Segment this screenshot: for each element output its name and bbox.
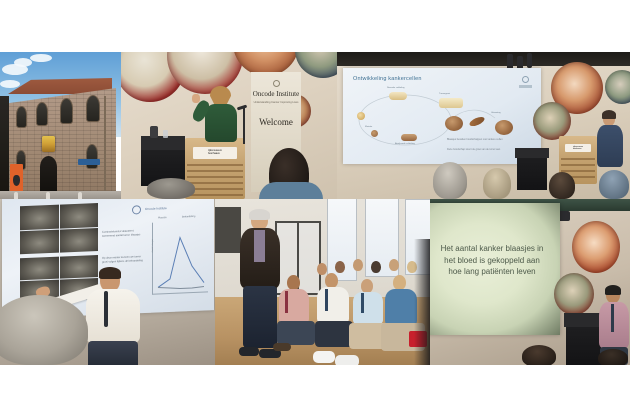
presenter-jeans [243, 286, 277, 348]
slide-logo-text: Oncode Institute [145, 206, 167, 211]
scan-thumbnail [60, 203, 99, 228]
slide-note-1: Blaasjes bevatten boodschappen voor ande… [447, 138, 531, 142]
foreground-audience-head [0, 295, 88, 365]
foreground-audience-head [433, 162, 467, 199]
street-sign [78, 159, 100, 165]
scan-thumbnail-grid [20, 203, 98, 254]
ceramic-wall-plate [572, 221, 620, 273]
diagram-node-tumor-start [439, 98, 463, 108]
slide-body-line-2: Op deze manier kunnen we tumor groei vol… [102, 255, 146, 265]
diagram-label: Mutatie [365, 126, 372, 128]
audience-torso [385, 289, 417, 325]
flag-emblem [13, 175, 20, 186]
foreground-audience-head [549, 172, 575, 199]
lectern-slat [187, 164, 242, 166]
diagram-node-distant-tumor [495, 120, 513, 135]
audience-torso [279, 289, 309, 323]
audience-legs [277, 321, 315, 345]
panel-chart-presentation[interactable]: Oncode Institute Contrastvloeistof detec… [0, 199, 215, 365]
orange-banner-flag [10, 164, 23, 194]
audience-scene [215, 199, 430, 365]
cloud [30, 54, 52, 62]
diagram-label: Tumorgroei [439, 93, 450, 95]
lanyard [325, 289, 328, 311]
foreground-audience-head [147, 178, 195, 199]
audience-head [361, 279, 373, 293]
lectern-logo-text: rijksmuseum boerhaave [208, 150, 222, 156]
cancercells-slide-scene: Ontwikkeling kankercellen [337, 52, 630, 199]
scan-thumbnail [60, 227, 99, 252]
oncode-logo-icon [273, 80, 280, 87]
diagram-node-division [389, 92, 407, 100]
bollard [14, 192, 18, 199]
speaker-hair [605, 285, 621, 295]
speaker-torso [205, 104, 237, 142]
audience-front-row [277, 273, 430, 365]
edge-shadow [414, 239, 430, 365]
audience-head [335, 261, 345, 273]
audience-torso [353, 292, 383, 324]
diagram-label: Normale celdeling [387, 87, 405, 89]
slide-body-line-1: Contrastvloeistof detecteert toenemend a… [102, 229, 146, 239]
drainpipe [104, 96, 106, 197]
diagram-label: Uitzaaiing [491, 112, 501, 114]
collage-row-bottom: Oncode Institute Contrastvloeistof detec… [0, 199, 630, 365]
speaker-person [193, 88, 245, 144]
presenter-shoe [239, 347, 259, 356]
presenter-hair [249, 209, 270, 220]
audience-head [325, 273, 338, 288]
speaker-hair [210, 86, 231, 105]
foreground-audience-head [599, 170, 629, 199]
audience-head [393, 275, 406, 290]
audience-legs [315, 321, 353, 347]
pointing-speaker [78, 269, 166, 365]
green-slide-scene: Het aantal kanker blaasjes in het bloed … [430, 199, 630, 365]
lectern-slat [187, 194, 242, 196]
ceiling-spotlight [527, 53, 532, 68]
foreground-audience-head [522, 345, 556, 365]
audience-sneaker [313, 351, 335, 363]
speaker-shirt [599, 302, 629, 348]
audience-torso [317, 287, 349, 323]
panel-speaker-podium[interactable]: Oncode Institute Understanding Cancer Im… [121, 52, 337, 199]
audience-shoe [273, 343, 291, 351]
lectern-slat [561, 158, 596, 160]
lanyard [611, 304, 614, 332]
scan-thumbnail [20, 229, 59, 254]
chart-legend-placebo: Placebo [158, 216, 167, 219]
speaker-torso [597, 125, 623, 167]
panel-museum-exterior[interactable] [0, 52, 121, 199]
arched-window [86, 95, 100, 122]
arched-window [16, 106, 27, 128]
diagram-node-abnormal-division [401, 134, 417, 141]
chart-legend-behandeling: Behandeling [182, 215, 195, 219]
diagram-node-cell [357, 112, 365, 120]
audience-sneaker [335, 355, 359, 365]
lectern-slat [187, 182, 242, 184]
lectern-slat [561, 164, 596, 166]
glass [163, 130, 168, 138]
speaker-podium-scene: Oncode Institute Understanding Cancer Im… [121, 52, 337, 199]
panel-audience[interactable] [215, 199, 430, 365]
speaker-hair [602, 110, 616, 119]
cocktail-table-cloth [566, 327, 602, 365]
bollard [46, 192, 50, 199]
cocktail-table-top [515, 148, 549, 158]
cloud [0, 80, 20, 88]
speaker-shirt [86, 289, 140, 343]
ceramic-wall-plate [533, 102, 571, 140]
speaker-hand [192, 94, 200, 103]
arched-window [36, 102, 48, 126]
diagram-node-tumor [445, 116, 463, 131]
foreground-audience-shoulders [259, 182, 323, 199]
audience-head [371, 261, 381, 273]
oncode-logo-icon [132, 205, 141, 214]
museum-exterior-scene [0, 52, 121, 199]
chart-presentation-scene: Oncode Institute Contrastvloeistof detec… [0, 199, 215, 365]
coat-of-arms [42, 136, 55, 152]
arched-window [60, 98, 73, 124]
speaker-hair [99, 267, 121, 279]
audience-head [353, 259, 363, 271]
side-table [141, 136, 185, 150]
collage-page: Oncode Institute Understanding Cancer Im… [0, 0, 630, 420]
presenter-shirt [254, 230, 265, 262]
adjacent-building [0, 96, 9, 199]
audience-head [389, 259, 399, 271]
chart-y-axis-label: Aantal blaasjes [152, 229, 154, 263]
panel-slide-cancercells[interactable]: Ontwikkeling kankercellen [337, 52, 630, 199]
photo-collage: Oncode Institute Understanding Cancer Im… [0, 52, 630, 365]
projection-screen: Ontwikkeling kankercellen [343, 68, 541, 164]
lectern-slat [187, 176, 242, 178]
banner-welcome-text: Welcome [259, 117, 293, 127]
foreground-audience-head [598, 349, 628, 365]
banner-institute-name: Oncode Institute [253, 91, 299, 98]
lectern-slat [187, 188, 242, 190]
audience-head [287, 275, 300, 290]
arched-window [86, 144, 98, 169]
panel-slide-green[interactable]: Het aantal kanker blaasjes in het bloed … [430, 199, 630, 365]
cocktail-table-cloth [517, 158, 547, 190]
bollard [78, 192, 82, 199]
lanyard [285, 291, 288, 313]
lanyard [104, 291, 108, 327]
diagram-label: Afwijkende celdeling [395, 143, 415, 145]
collage-row-top: Oncode Institute Understanding Cancer Im… [0, 52, 630, 199]
pavement [0, 191, 121, 199]
speaker-trousers [88, 341, 138, 365]
foreground-audience-head [483, 168, 511, 199]
scan-thumbnail [20, 205, 59, 230]
scan-thumbnail [20, 257, 59, 280]
cloud [14, 58, 32, 67]
banner-subtitle: Understanding Cancer Improving Lives [254, 101, 299, 104]
water-pitcher [150, 126, 158, 138]
projection-screen: Het aantal kanker blaasjes in het bloed … [430, 203, 560, 335]
ceramic-wall-plate [554, 273, 594, 315]
slide-text: Het aantal kanker blaasjes in het bloed … [440, 243, 544, 278]
lectern-logo: rijksmuseum boerhaave [193, 147, 237, 159]
lectern-slat [187, 170, 242, 172]
lanyard [361, 293, 364, 313]
diagram-node-mutation [371, 130, 378, 137]
lectern-logo: rijksmuseum boerhaave [565, 144, 591, 152]
lectern-logo-text: rijksmuseum boerhaave [573, 146, 583, 150]
